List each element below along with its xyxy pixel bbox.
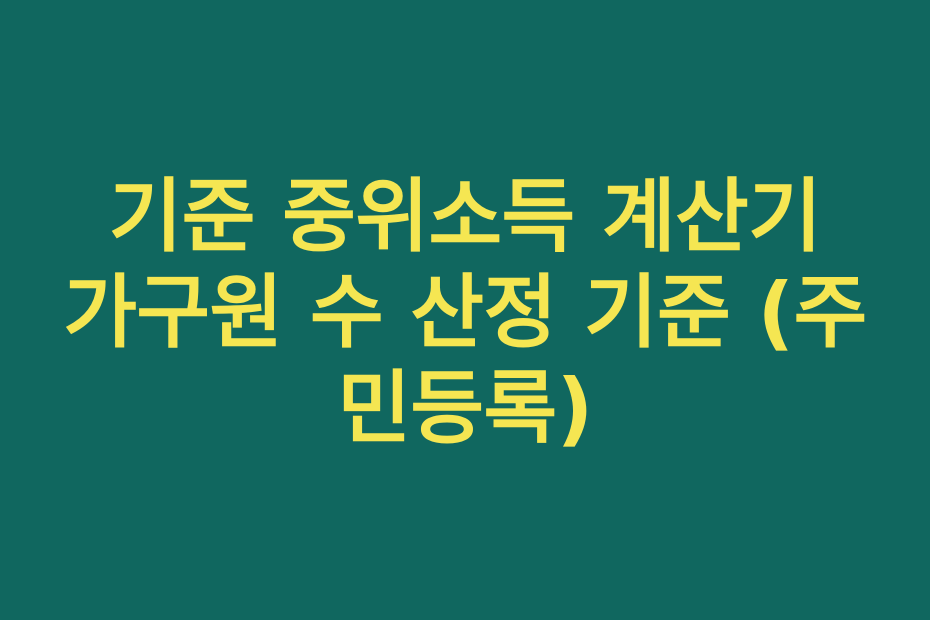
page-title: 기준 중위소득 계산기 가구원 수 산정 기준 (주 민등록) xyxy=(35,169,895,457)
title-line-2: 가구원 수 산정 기준 (주 xyxy=(35,265,895,361)
thumbnail-card: 기준 중위소득 계산기 가구원 수 산정 기준 (주 민등록) xyxy=(0,0,930,620)
title-line-1: 기준 중위소득 계산기 xyxy=(35,169,895,265)
title-line-3: 민등록) xyxy=(35,361,895,457)
